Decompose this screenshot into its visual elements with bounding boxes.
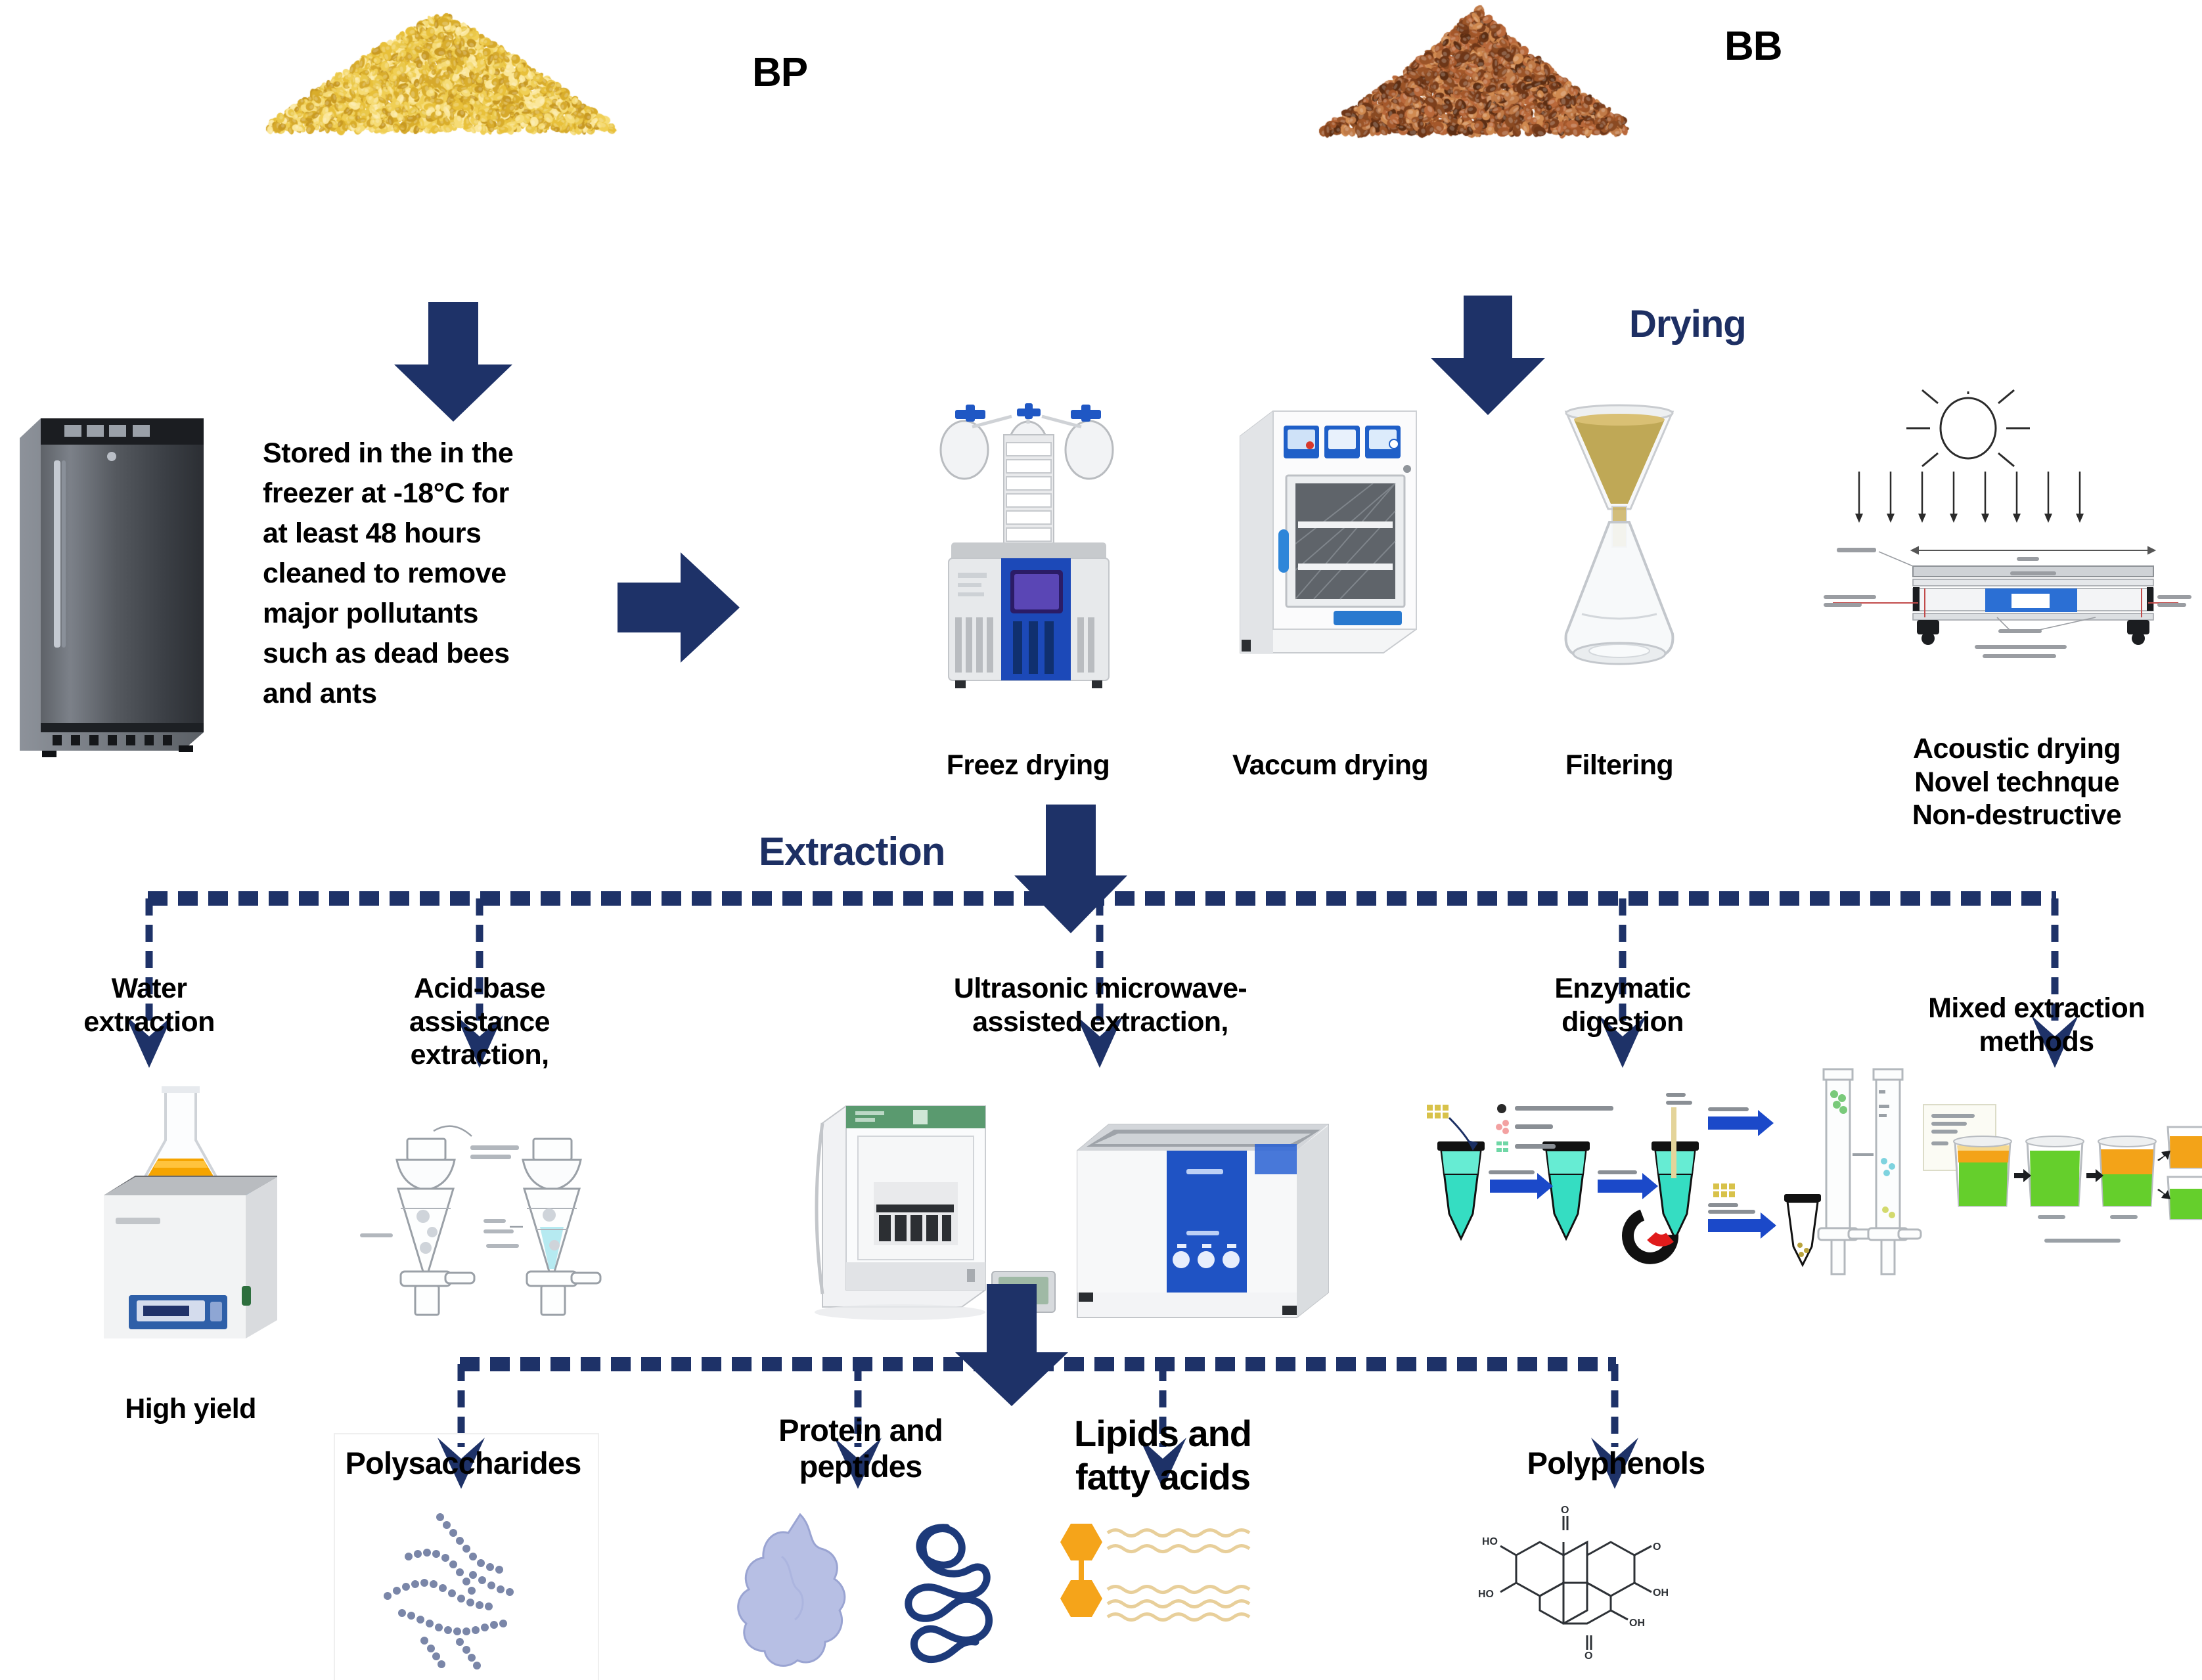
acidbase-line-2: assistance [358, 1006, 601, 1039]
enzyme-tubes-icon [1426, 1090, 1846, 1307]
ultrasonic-line-1: Ultrasonic microwave- [877, 972, 1324, 1006]
acidbase-line-3: extraction, [358, 1038, 601, 1072]
extraction-method-label-water: Water extraction [28, 972, 271, 1038]
svg-text:O: O [1653, 1541, 1661, 1553]
storage-line: freezer at -18°C for [263, 474, 572, 514]
arrow-storage-to-drying [618, 548, 742, 667]
storage-description: Stored in the in the freezer at -18°C fo… [263, 433, 572, 714]
protein-line-1: Protein and [723, 1412, 999, 1448]
product-label-protein: Protein and peptides [723, 1412, 999, 1485]
extraction-method-label-enzymatic: Enzymatic digestion [1491, 972, 1754, 1038]
mixed-line-1: Mixed extraction [1872, 992, 2201, 1025]
drying-method-label-filtering: Filtering [1511, 749, 1728, 782]
acoustic-title: Acoustic drying [1846, 732, 2188, 766]
protein-line-2: peptides [723, 1448, 999, 1484]
extraction-stage-label: Extraction [759, 829, 945, 874]
storage-line: cleaned to remove [263, 554, 572, 594]
svg-text:HO: HO [1482, 1536, 1498, 1547]
product-label-polyphenols: Polyphenols [1478, 1445, 1754, 1481]
bee-bread-heap-image [1301, 0, 1655, 141]
polyphenol-structure-icon: HO HO OH O O O OH [1465, 1511, 1675, 1675]
polysaccharide-chain-icon [368, 1491, 565, 1675]
storage-line: and ants [263, 674, 572, 714]
acoustic-dryer-icon [1813, 394, 2194, 670]
drying-method-label-vacuum: Vaccum drying [1202, 749, 1458, 782]
svg-text:O: O [1561, 1505, 1569, 1516]
svg-text:OH: OH [1653, 1587, 1669, 1599]
lipids-line-1: Lipids and [1031, 1412, 1294, 1455]
acoustic-sub-2: Non-destructive [1846, 799, 2188, 832]
ultrasonic-line-2: assisted extraction, [877, 1006, 1324, 1039]
product-label-lipids: Lipids and fatty acids [1031, 1412, 1294, 1499]
peptide-coil-icon [884, 1517, 1022, 1675]
figure-canvas: BP BB Drying [0, 0, 2202, 1680]
extraction-method-label-mixed: Mixed extraction methods [1872, 992, 2201, 1058]
water-bath-flask-icon [92, 1077, 289, 1353]
protein-blob-icon [729, 1511, 880, 1675]
water-line-2: extraction [28, 1006, 271, 1039]
extraction-method-label-ultrasonic: Ultrasonic microwave- assisted extractio… [877, 972, 1324, 1038]
mixed-line-2: methods [1872, 1025, 2201, 1059]
storage-line: Stored in the in the [263, 433, 572, 474]
acoustic-sub-1: Novel technque [1846, 766, 2188, 799]
acidbase-line-1: Acid-base [358, 972, 601, 1006]
lipids-line-2: fatty acids [1031, 1455, 1294, 1499]
bee-pollen-heap-image [243, 7, 637, 138]
storage-line: such as dead bees [263, 634, 572, 674]
bee-pollen-label: BP [752, 49, 807, 96]
svg-text:HO: HO [1478, 1589, 1494, 1600]
storage-line: major pollutants [263, 594, 572, 634]
bee-bread-label: BB [1724, 23, 1782, 70]
drying-method-label-freeze: Freez drying [907, 749, 1150, 782]
enzymatic-line-1: Enzymatic [1491, 972, 1754, 1006]
mixed-extraction-icon [1813, 1064, 2202, 1327]
svg-text:O: O [1584, 1650, 1592, 1662]
freeze-dryer-icon [933, 401, 1123, 690]
separatory-funnel-icon [355, 1116, 631, 1346]
storage-line: at least 48 hours [263, 514, 572, 554]
water-line-1: Water [28, 972, 271, 1006]
drying-stage-label: Drying [1629, 302, 1746, 346]
arrow-bp-to-freezer [381, 302, 526, 424]
vacuum-oven-icon [1235, 406, 1426, 669]
funnel-flask-icon [1544, 397, 1695, 673]
extraction-method-label-acid-base: Acid-base assistance extraction, [358, 972, 601, 1072]
enzymatic-line-2: digestion [1491, 1006, 1754, 1039]
drying-method-label-acoustic: Acoustic drying Novel technque Non-destr… [1846, 732, 2188, 832]
freezer-icon [13, 404, 210, 759]
arrow-bb-to-drying [1419, 296, 1557, 417]
lipid-bilayer-icon [1045, 1517, 1288, 1668]
svg-text:OH: OH [1629, 1618, 1645, 1629]
